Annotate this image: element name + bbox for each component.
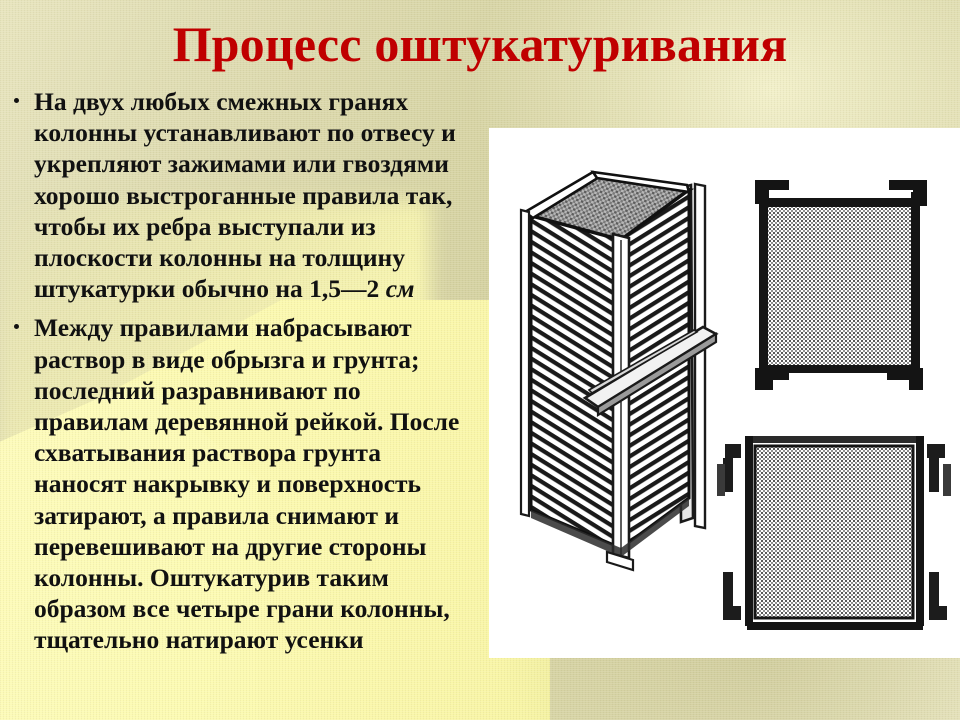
- column-isometric: [521, 172, 716, 570]
- plan-bottom-left-bar: [745, 436, 753, 626]
- plan-bottom-section-fill: [755, 446, 913, 618]
- bullet-line: колонны устанавливают по отвесу: [34, 118, 435, 147]
- bullet-line: натирают усенки: [166, 625, 364, 654]
- slide: Процесс оштукатуривания На двух любых см…: [0, 0, 960, 720]
- plastering-column-illustration: [489, 128, 960, 658]
- bullet-line-unit: см: [386, 274, 415, 303]
- right-outer-rule: [695, 184, 705, 528]
- bullet-line-measure: на 1,5—2: [275, 274, 385, 303]
- bullet-item-1: На двух любых смежных гранях колонны уст…: [8, 86, 478, 304]
- plan-bottom-bottom-bar: [747, 622, 923, 630]
- clamp-tail-top-right: [943, 464, 951, 496]
- left-outer-rule: [521, 210, 529, 516]
- bullet-line: раствор в виде обрызга и грунта;: [34, 345, 419, 374]
- bullet-item-2: Между правилами набрасывают раствор в ви…: [8, 312, 478, 655]
- clamp-tail-top-left: [717, 464, 725, 496]
- bullet-line: Между правилами набрасывают: [34, 313, 412, 342]
- bullet-dot-icon: [14, 98, 19, 103]
- bullet-dot-icon: [14, 324, 19, 329]
- plan-bottom-top-bar: [747, 436, 923, 443]
- page-title: Процесс оштукатуривания: [0, 18, 960, 71]
- bullet-list: На двух любых смежных гранях колонны уст…: [8, 86, 478, 664]
- figure-panel: [489, 128, 960, 658]
- bullet-line: правилам деревянной рейкой.: [34, 407, 383, 436]
- plan-bottom-right-bar: [916, 436, 924, 626]
- bullet-line: последний разравнивают по: [34, 376, 361, 405]
- plan-view-top: [755, 180, 927, 390]
- bullet-line: На двух любых смежных гранях: [34, 87, 408, 116]
- plan-top-section-fill: [767, 206, 913, 366]
